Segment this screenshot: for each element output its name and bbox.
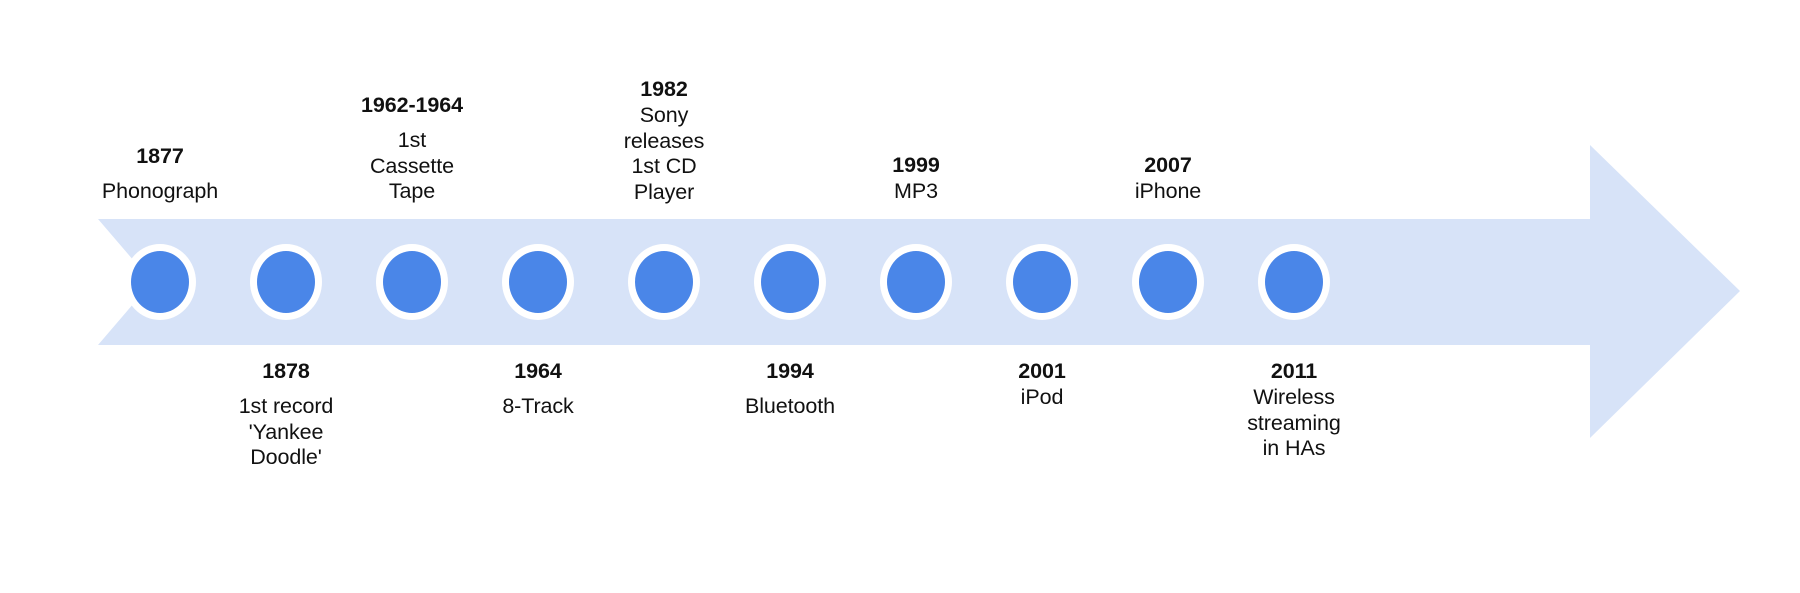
milestone-description: 1stCassetteTape bbox=[307, 128, 517, 205]
milestone-year: 1877 bbox=[55, 143, 265, 169]
milestone-description: MP3 bbox=[811, 179, 1021, 205]
milestone-description: 8-Track bbox=[433, 394, 643, 420]
milestone-label-1964: 19648-Track bbox=[433, 358, 643, 420]
milestone-year: 1982 bbox=[559, 76, 769, 102]
milestone-label-2011: 2011Wirelessstreamingin HAs bbox=[1189, 358, 1399, 462]
milestone-year: 2001 bbox=[937, 358, 1147, 384]
milestone-label-1982: 1982Sonyreleases1st CDPlayer bbox=[559, 76, 769, 205]
milestone-description: 1st record'YankeeDoodle' bbox=[181, 394, 391, 471]
milestone-year: 2007 bbox=[1063, 152, 1273, 178]
milestone-year: 1962-1964 bbox=[307, 92, 517, 118]
milestone-year: 1964 bbox=[433, 358, 643, 384]
milestone-year: 2011 bbox=[1189, 358, 1399, 384]
milestone-description: iPhone bbox=[1063, 179, 1273, 205]
milestone-label-2001: 2001iPod bbox=[937, 358, 1147, 411]
milestone-description: Sonyreleases1st CDPlayer bbox=[559, 103, 769, 205]
milestone-year: 1999 bbox=[811, 152, 1021, 178]
milestone-label-1999: 1999MP3 bbox=[811, 152, 1021, 205]
milestone-labels: 1877Phonograph18781st record'YankeeDoodl… bbox=[0, 0, 1800, 593]
milestone-label-1877: 1877Phonograph bbox=[55, 143, 265, 205]
milestone-year: 1994 bbox=[685, 358, 895, 384]
milestone-label-1994: 1994Bluetooth bbox=[685, 358, 895, 420]
milestone-description: iPod bbox=[937, 385, 1147, 411]
milestone-label-1962-1964: 1962-19641stCassetteTape bbox=[307, 92, 517, 205]
milestone-label-1878: 18781st record'YankeeDoodle' bbox=[181, 358, 391, 471]
milestone-description: Wirelessstreamingin HAs bbox=[1189, 385, 1399, 462]
milestone-year: 1878 bbox=[181, 358, 391, 384]
timeline-graphic: 1877Phonograph18781st record'YankeeDoodl… bbox=[0, 0, 1800, 593]
milestone-description: Phonograph bbox=[55, 179, 265, 205]
milestone-label-2007: 2007iPhone bbox=[1063, 152, 1273, 205]
milestone-description: Bluetooth bbox=[685, 394, 895, 420]
